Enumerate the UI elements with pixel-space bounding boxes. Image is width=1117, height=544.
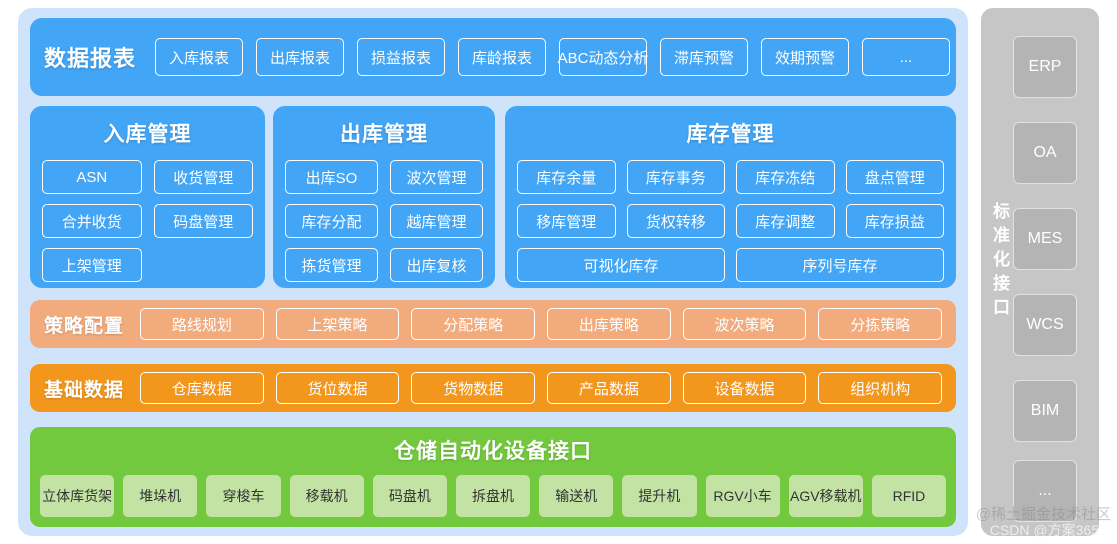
section-title-data-report: 数据报表 (44, 41, 136, 73)
section-basic-data: 基础数据 仓库数据 货位数据 货物数据 产品数据 设备数据 组织机构 (30, 364, 956, 412)
sidebar-item-bim[interactable]: BIM (1013, 380, 1077, 442)
section-stock-management: 库存管理 库存余量 库存事务 库存冻结 盘点管理 移库管理 货权转移 库存调整 … (505, 106, 956, 288)
automation-chip-row: 立体库货架 堆垛机 穿梭车 移载机 码盘机 拆盘机 输送机 提升机 RGV小车 … (40, 475, 946, 517)
sidebar-label: 标准化接口 (990, 200, 1014, 320)
section-title-stock: 库存管理 (517, 118, 944, 148)
sidebar-item-erp[interactable]: ERP (1013, 36, 1077, 98)
chip-shuttle[interactable]: 穿梭车 (206, 475, 280, 517)
section-data-report: 数据报表 入库报表 出库报表 损益报表 库龄报表 ABC动态分析 滞库预警 效期… (30, 18, 956, 96)
chip-stock-allocation[interactable]: 库存分配 (285, 204, 378, 238)
chip-slow-stock-alert[interactable]: 滞库预警 (660, 38, 748, 76)
chip-stock-adjustment[interactable]: 库存调整 (736, 204, 835, 238)
chip-palletizing-management[interactable]: 码盘管理 (154, 204, 254, 238)
chip-stocktake-management[interactable]: 盘点管理 (846, 160, 945, 194)
chip-sorting-policy[interactable]: 分拣策略 (818, 308, 942, 340)
outbound-chip-grid: 出库SO 波次管理 库存分配 越库管理 拣货管理 出库复核 (285, 160, 483, 282)
chip-conveyor[interactable]: 输送机 (539, 475, 613, 517)
chip-abc-analysis[interactable]: ABC动态分析 (559, 38, 647, 76)
chip-picking-management[interactable]: 拣货管理 (285, 248, 378, 282)
chip-goods-data[interactable]: 货物数据 (411, 372, 535, 404)
chip-product-data[interactable]: 产品数据 (547, 372, 671, 404)
chip-asrs-rack[interactable]: 立体库货架 (40, 475, 114, 517)
chip-more-reports[interactable]: ... (862, 38, 950, 76)
chip-stock-profit-loss[interactable]: 库存损益 (846, 204, 945, 238)
chip-stock-age-report[interactable]: 库龄报表 (458, 38, 546, 76)
chip-organization[interactable]: 组织机构 (818, 372, 942, 404)
section-outbound-management: 出库管理 出库SO 波次管理 库存分配 越库管理 拣货管理 出库复核 (273, 106, 495, 288)
sidebar-standard-interface: 标准化接口 ERP OA MES WCS BIM ... (981, 8, 1099, 536)
chip-expiry-alert[interactable]: 效期预警 (761, 38, 849, 76)
chip-putaway-management[interactable]: 上架管理 (42, 248, 142, 282)
chip-allocation-policy[interactable]: 分配策略 (411, 308, 535, 340)
section-inbound-management: 入库管理 ASN 收货管理 合并收货 码盘管理 上架管理 (30, 106, 265, 288)
chip-stock-balance[interactable]: 库存余量 (517, 160, 616, 194)
chip-serial-number-stock[interactable]: 序列号库存 (736, 248, 944, 282)
section-title-basic-data: 基础数据 (44, 375, 124, 402)
chip-rfid[interactable]: RFID (872, 475, 946, 517)
chip-warehouse-data[interactable]: 仓库数据 (140, 372, 264, 404)
chip-transfer-management[interactable]: 移库管理 (517, 204, 616, 238)
chip-wave-policy[interactable]: 波次策略 (683, 308, 807, 340)
chip-palletizer[interactable]: 码盘机 (373, 475, 447, 517)
chip-putaway-policy[interactable]: 上架策略 (276, 308, 400, 340)
chip-depalletizer[interactable]: 拆盘机 (456, 475, 530, 517)
chip-transfer-machine[interactable]: 移载机 (290, 475, 364, 517)
stock-chip-grid: 库存余量 库存事务 库存冻结 盘点管理 移库管理 货权转移 库存调整 库存损益 … (517, 160, 944, 282)
chip-outbound-so[interactable]: 出库SO (285, 160, 378, 194)
chip-agv-transfer[interactable]: AGV移载机 (789, 475, 863, 517)
chip-stacker-crane[interactable]: 堆垛机 (123, 475, 197, 517)
section-title-inbound: 入库管理 (42, 118, 253, 148)
sidebar-item-mes[interactable]: MES (1013, 208, 1077, 270)
chip-inbound-report[interactable]: 入库报表 (155, 38, 243, 76)
section-title-automation: 仓储自动化设备接口 (40, 435, 946, 465)
section-automation-interface: 仓储自动化设备接口 立体库货架 堆垛机 穿梭车 移载机 码盘机 拆盘机 输送机 … (30, 427, 956, 527)
chip-lifter[interactable]: 提升机 (622, 475, 696, 517)
chip-profit-loss-report[interactable]: 损益报表 (357, 38, 445, 76)
chip-location-data[interactable]: 货位数据 (276, 372, 400, 404)
chip-cross-dock-management[interactable]: 越库管理 (390, 204, 483, 238)
chip-outbound-review[interactable]: 出库复核 (390, 248, 483, 282)
sidebar-item-wcs[interactable]: WCS (1013, 294, 1077, 356)
chip-receiving-management[interactable]: 收货管理 (154, 160, 254, 194)
section-title-outbound: 出库管理 (285, 118, 483, 148)
architecture-diagram: 数据报表 入库报表 出库报表 损益报表 库龄报表 ABC动态分析 滞库预警 效期… (0, 0, 1117, 544)
chip-visual-stock[interactable]: 可视化库存 (517, 248, 725, 282)
chip-stock-freeze[interactable]: 库存冻结 (736, 160, 835, 194)
inbound-chip-grid: ASN 收货管理 合并收货 码盘管理 上架管理 (42, 160, 253, 282)
chip-ownership-transfer[interactable]: 货权转移 (627, 204, 726, 238)
chip-wave-management[interactable]: 波次管理 (390, 160, 483, 194)
section-policy-config: 策略配置 路线规划 上架策略 分配策略 出库策略 波次策略 分拣策略 (30, 300, 956, 348)
section-title-policy: 策略配置 (44, 311, 124, 338)
chip-equipment-data[interactable]: 设备数据 (683, 372, 807, 404)
sidebar-item-more[interactable]: ... (1013, 460, 1077, 522)
chip-rgv-cart[interactable]: RGV小车 (706, 475, 780, 517)
chip-outbound-report[interactable]: 出库报表 (256, 38, 344, 76)
sidebar-item-oa[interactable]: OA (1013, 122, 1077, 184)
chip-outbound-policy[interactable]: 出库策略 (547, 308, 671, 340)
chip-stock-transaction[interactable]: 库存事务 (627, 160, 726, 194)
chip-merge-receiving[interactable]: 合并收货 (42, 204, 142, 238)
chip-asn[interactable]: ASN (42, 160, 142, 194)
chip-route-planning[interactable]: 路线规划 (140, 308, 264, 340)
